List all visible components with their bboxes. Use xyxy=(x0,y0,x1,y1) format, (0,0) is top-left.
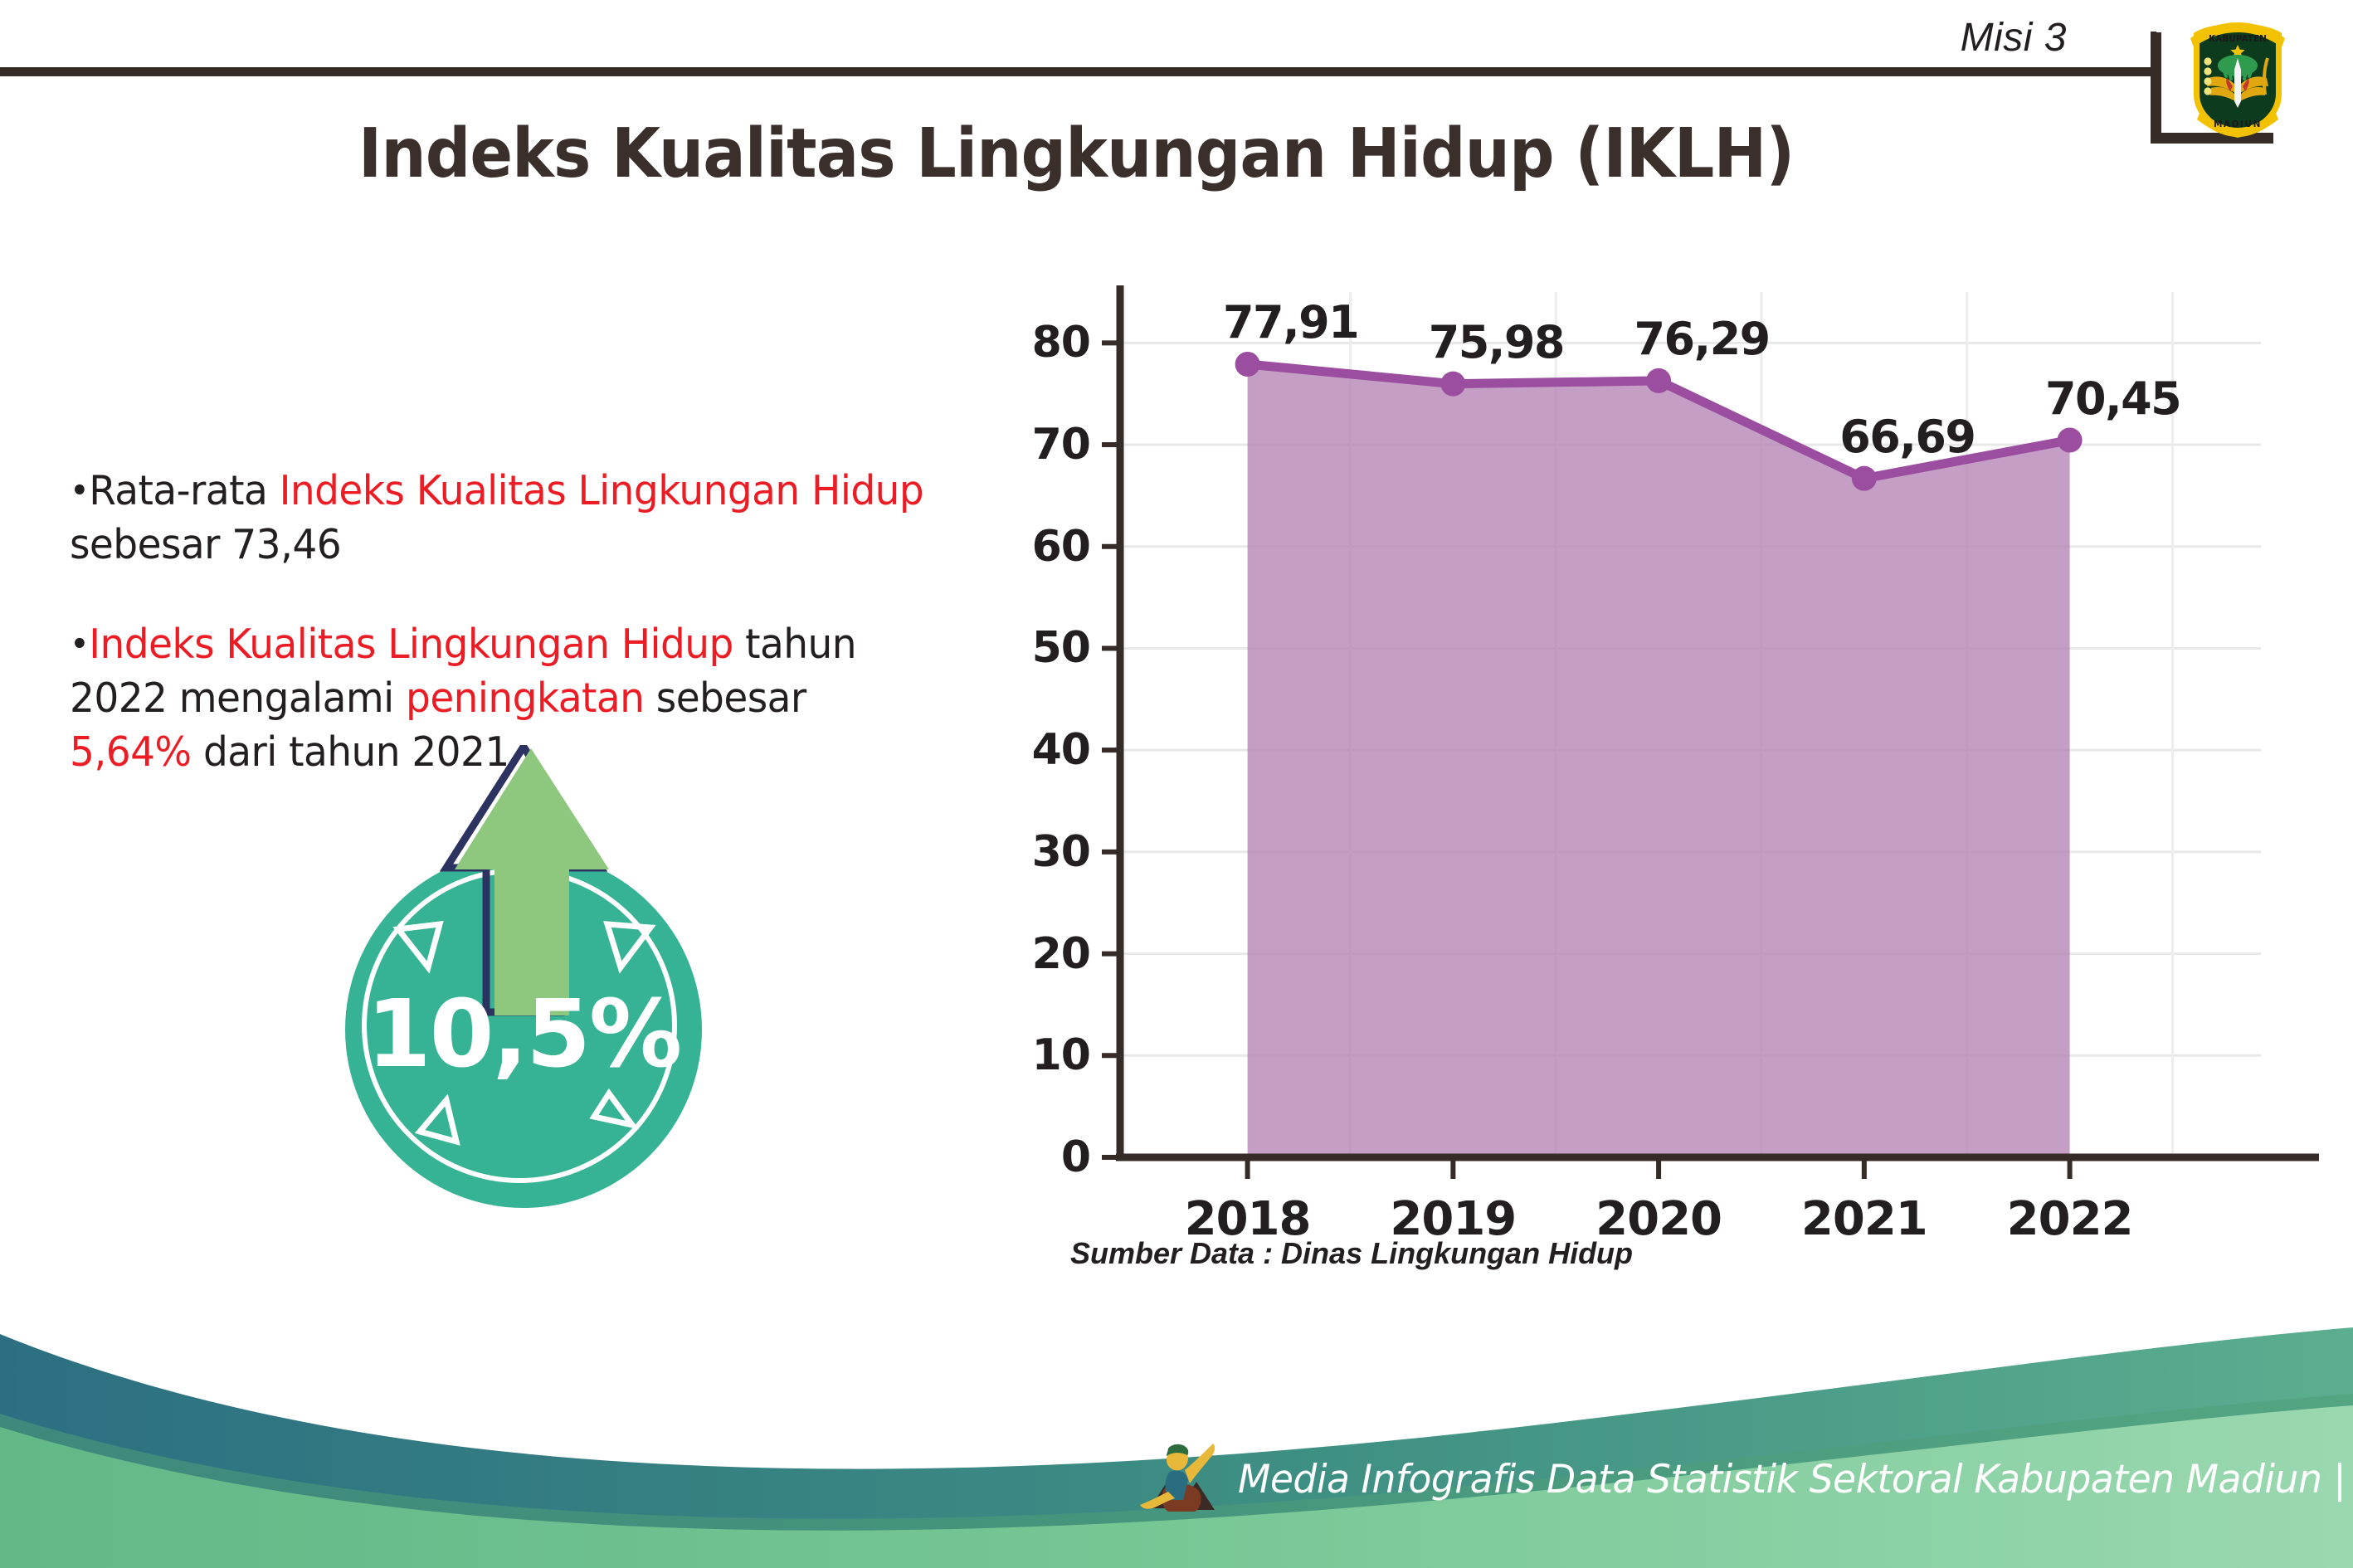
badge-tick-top-right xyxy=(607,924,650,967)
y-axis-tick-label: 10 xyxy=(1032,1030,1090,1080)
misi-label: Misi 3 xyxy=(1961,15,2067,61)
data-point-label: 70,45 xyxy=(2045,373,2180,425)
y-axis-tick-label: 70 xyxy=(1032,420,1090,470)
data-point-label: 66,69 xyxy=(1839,411,1975,463)
footer-caption: Media Infografis Data Statistik Sektoral… xyxy=(1238,1457,2346,1502)
y-axis-tick-label: 30 xyxy=(1032,827,1090,877)
bullet-text-1-seg-2: Indeks Kualitas Lingkungan Hidup xyxy=(280,467,924,514)
iklh-area-chart: 01020304050607080 20182019202020212022 7… xyxy=(979,274,2323,1228)
bullet-text-2-seg-3: peningkatan xyxy=(406,674,644,722)
bullet-text-2-seg-1: Indeks Kualitas Lingkungan Hidup xyxy=(89,621,733,668)
badge-tick-top-left xyxy=(398,924,440,967)
bullet-text-2-seg-4: sebesar xyxy=(644,674,806,722)
header-divider-rule xyxy=(0,67,2151,76)
data-point-label: 76,29 xyxy=(1634,313,1769,365)
y-axis-tick-label: 60 xyxy=(1032,522,1090,572)
infographic-slide: Misi 3 KABUPATEN MADIUN Indeks xyxy=(0,0,2353,1568)
y-axis-tick-label: 20 xyxy=(1032,929,1090,979)
badge-percent-label: 10,5% xyxy=(345,981,702,1088)
svg-text:KABUPATEN: KABUPATEN xyxy=(2209,34,2267,44)
up-arrow-icon xyxy=(322,745,753,1210)
y-axis-tick-label: 50 xyxy=(1032,623,1090,673)
increase-badge: 10,5% xyxy=(322,745,753,1210)
data-point-label: 75,98 xyxy=(1429,316,1564,368)
badge-tick-bottom-right xyxy=(594,1093,632,1125)
bullet-text-1-seg-1: Rata-rata xyxy=(89,467,279,514)
bullet-item-average: •Rata-rata Indeks Kualitas Lingkungan Hi… xyxy=(70,465,930,572)
y-axis-tick-label: 80 xyxy=(1032,318,1090,368)
media-infografis-figure-logo-icon xyxy=(1135,1429,1228,1553)
bullet-dot-icon: • xyxy=(70,624,89,665)
bullet-dot-icon: • xyxy=(70,470,89,510)
page-title: Indeks Kualitas Lingkungan Hidup (IKLH) xyxy=(82,114,2270,193)
y-axis-tick-label: 0 xyxy=(1061,1132,1090,1182)
badge-tick-bottom-left xyxy=(420,1100,456,1142)
bullet-text-2-seg-5: 5,64% xyxy=(70,728,192,776)
y-axis-tick-label: 40 xyxy=(1032,725,1090,775)
bullet-text-1-seg-3: sebesar 73,46 xyxy=(70,521,341,568)
data-point-label: 77,91 xyxy=(1223,296,1358,348)
